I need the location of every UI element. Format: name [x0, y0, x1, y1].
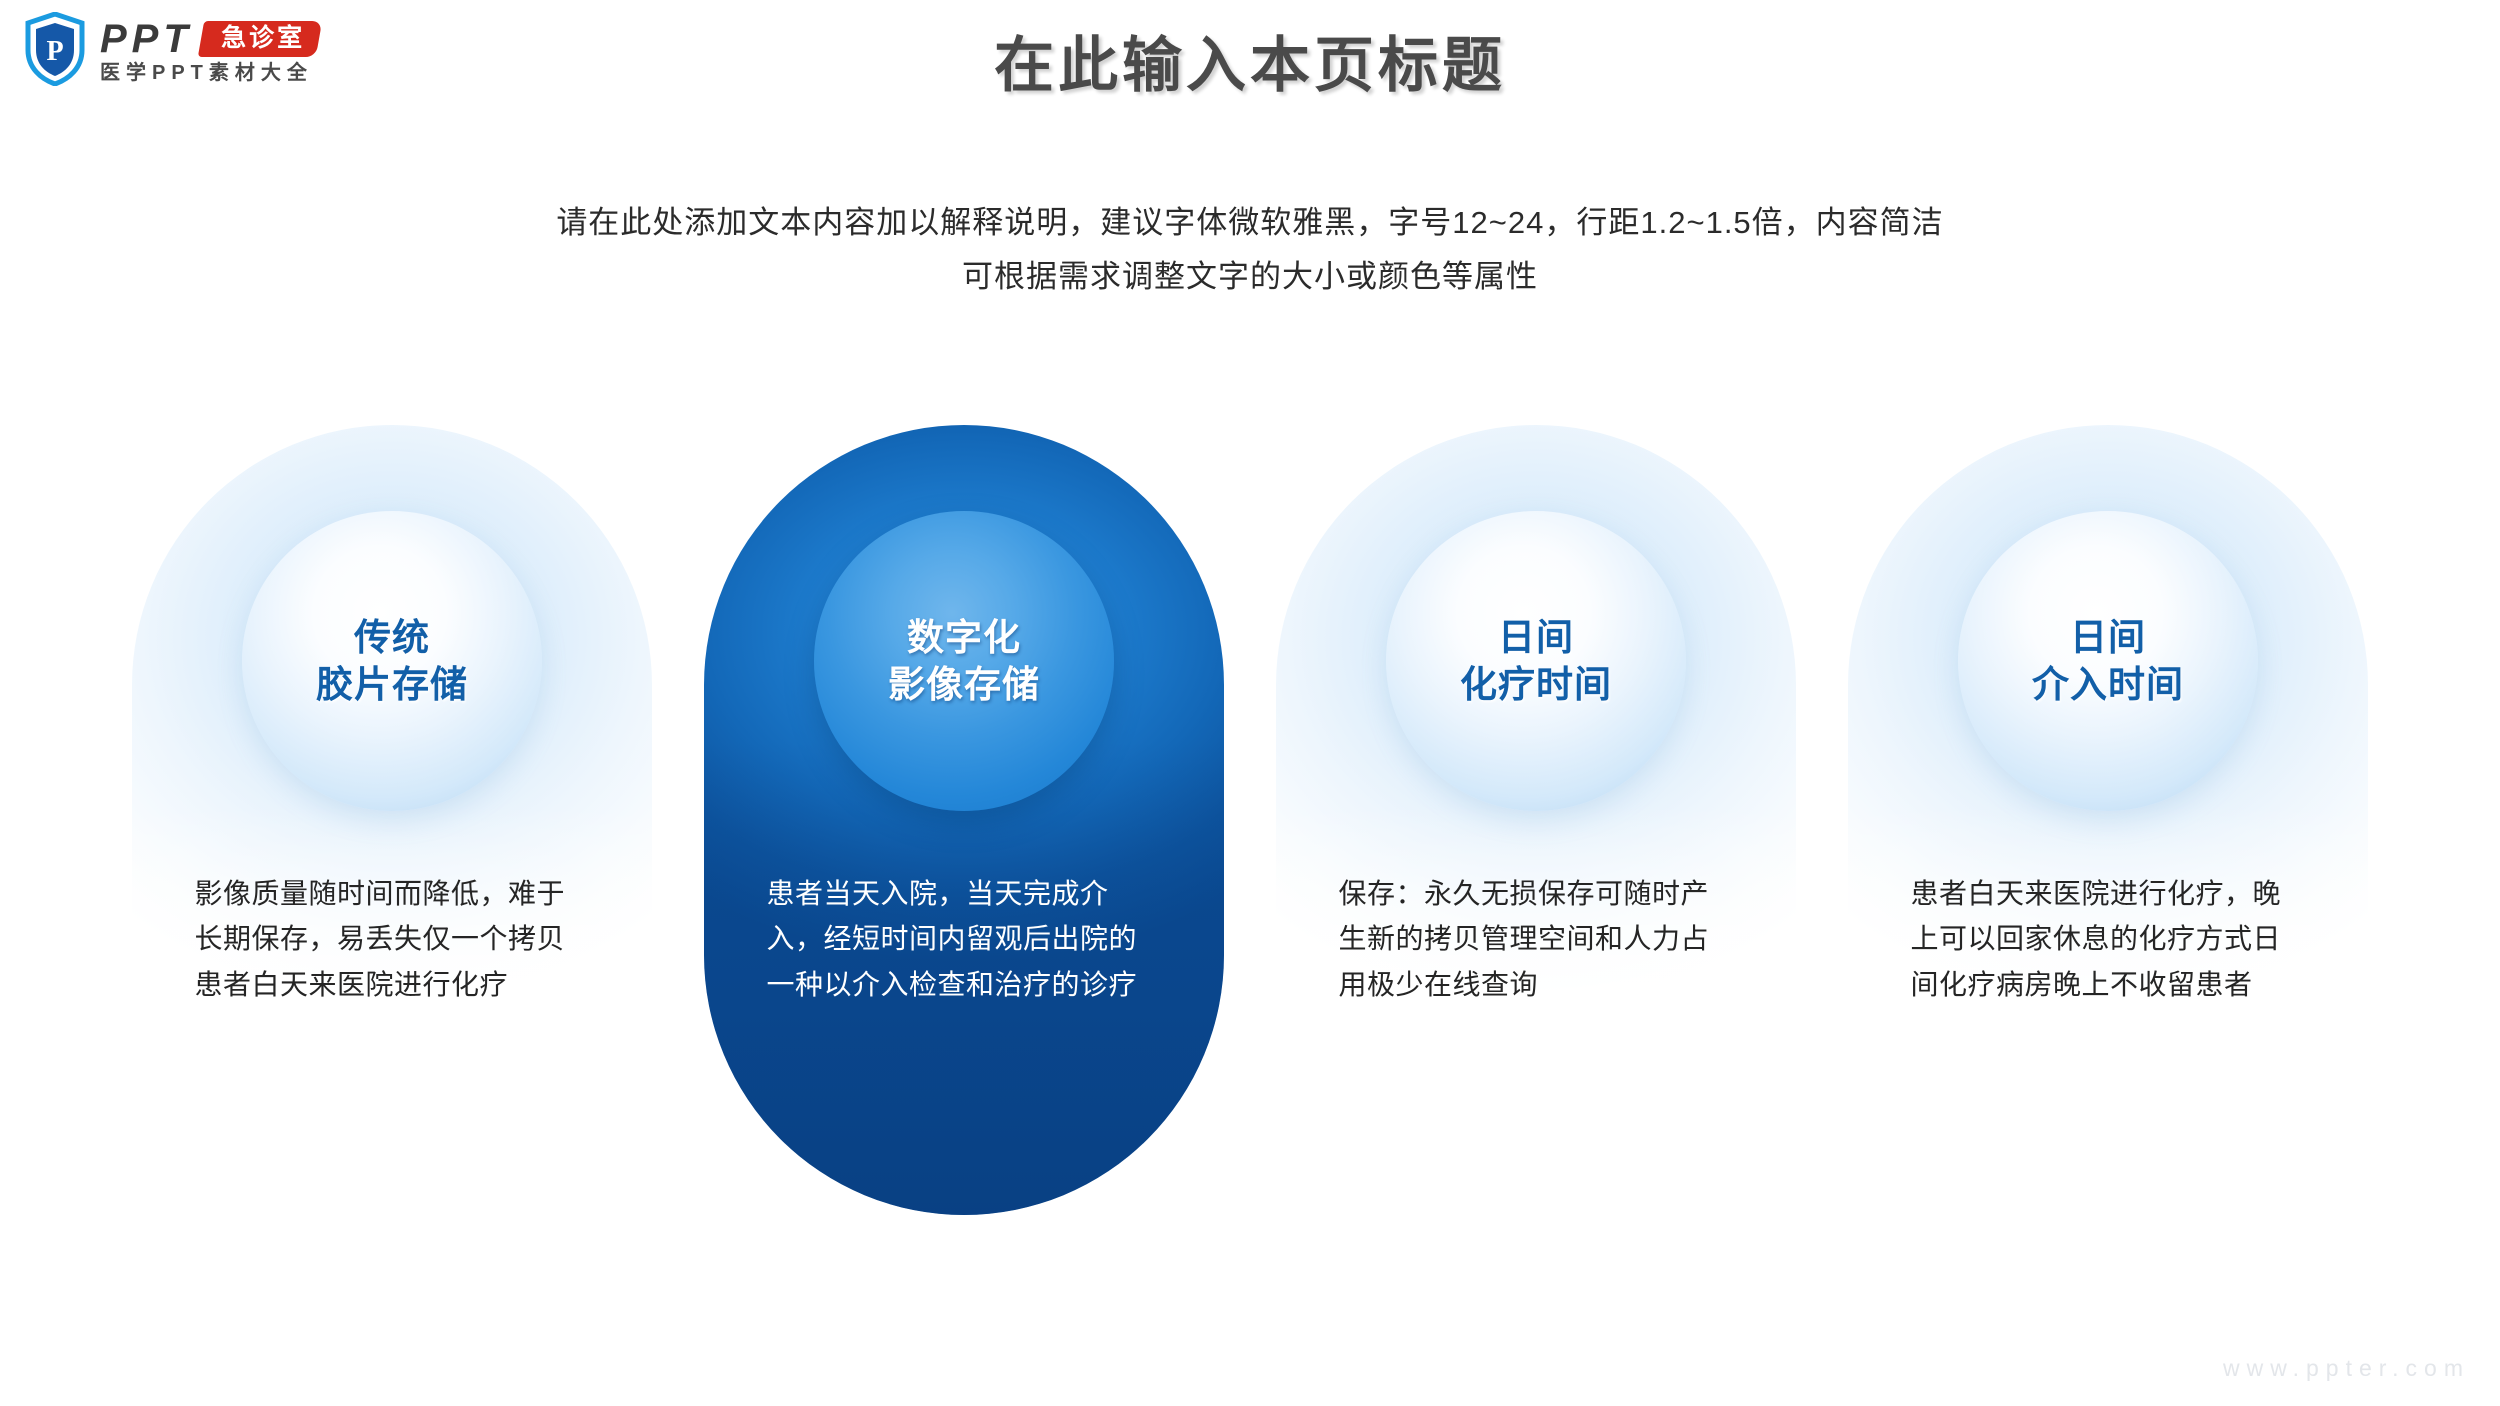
page-subtitle: 请在此处添加文本内容加以解释说明，建议字体微软雅黑，字号12~24，行距1.2~…	[0, 196, 2500, 305]
card-body-4: 患者白天来医院进行化疗，晚上可以回家休息的化疗方式日间化疗病房晚上不收留患者	[1911, 871, 2306, 1007]
card-title-3: 日间 化疗时间	[1460, 614, 1612, 709]
page-title: 在此输入本页标题	[0, 36, 2500, 96]
card-body-2: 患者当天入院，当天完成介入，经短时间内留观后出院的一种以介入检查和治疗的诊疗	[767, 871, 1162, 1007]
card-bubble-1: 传统 胶片存储	[242, 511, 542, 811]
card-bubble-3: 日间 化疗时间	[1386, 511, 1686, 811]
card-body-3: 保存：永久无损保存可随时产生新的拷贝管理空间和人力占用极少在线查询	[1339, 871, 1734, 1007]
card-item-1[interactable]: 传统 胶片存储 影像质量随时间而降低，难于长期保存，易丢失仅一个拷贝患者白天来医…	[132, 425, 652, 1215]
card-item-3[interactable]: 日间 化疗时间 保存：永久无损保存可随时产生新的拷贝管理空间和人力占用极少在线查…	[1276, 425, 1796, 1215]
card-title-4: 日间 介入时间	[2032, 614, 2184, 709]
page-subtitle-line-2: 可根据需求调整文字的大小或颜色等属性	[0, 250, 2500, 304]
card-bubble-4: 日间 介入时间	[1958, 511, 2258, 811]
card-item-2[interactable]: 数字化 影像存储 患者当天入院，当天完成介入，经短时间内留观后出院的一种以介入检…	[704, 425, 1224, 1215]
card-row: 传统 胶片存储 影像质量随时间而降低，难于长期保存，易丢失仅一个拷贝患者白天来医…	[0, 425, 2500, 1255]
card-bubble-2: 数字化 影像存储	[814, 511, 1114, 811]
card-title-2: 数字化 影像存储	[888, 614, 1040, 709]
site-watermark: www.ppter.com	[2223, 1355, 2470, 1382]
card-item-4[interactable]: 日间 介入时间 患者白天来医院进行化疗，晚上可以回家休息的化疗方式日间化疗病房晚…	[1848, 425, 2368, 1215]
card-title-1: 传统 胶片存储	[316, 614, 468, 709]
card-body-1: 影像质量随时间而降低，难于长期保存，易丢失仅一个拷贝患者白天来医院进行化疗	[195, 871, 590, 1007]
page-subtitle-line-1: 请在此处添加文本内容加以解释说明，建议字体微软雅黑，字号12~24，行距1.2~…	[0, 196, 2500, 250]
